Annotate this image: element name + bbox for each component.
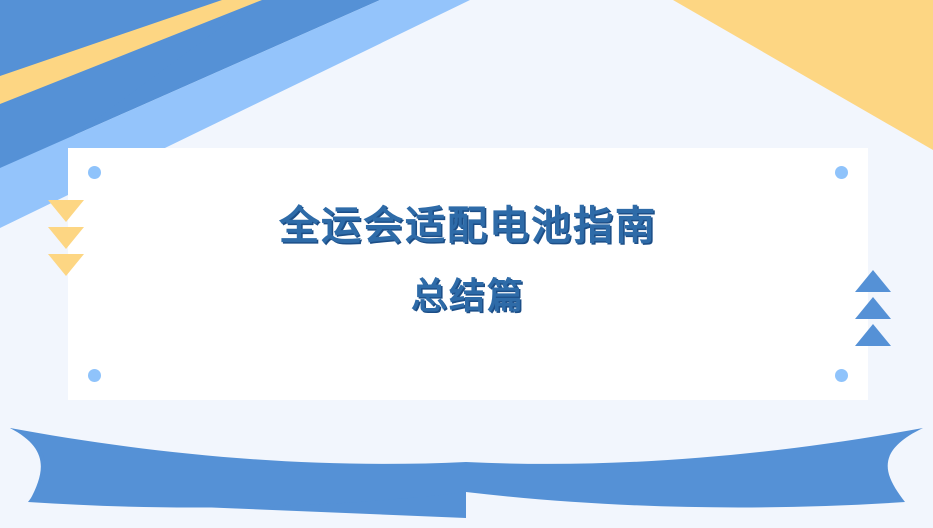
triangle-up-icon [855, 324, 891, 346]
triangle-up-icon [855, 297, 891, 319]
triangle-down-icon [48, 200, 84, 222]
title-slide-poster: 全运会适配电池指南 总结篇 [0, 0, 933, 528]
left-triangle-decoration [48, 200, 84, 281]
page-subtitle: 总结篇 [68, 274, 868, 317]
card-dot-top-left-icon [88, 166, 101, 179]
triangle-up-icon [855, 270, 891, 292]
card-dot-bottom-right-icon [835, 369, 848, 382]
title-block: 全运会适配电池指南 总结篇 [68, 202, 868, 317]
triangle-down-icon [48, 227, 84, 249]
card-dot-top-right-icon [835, 166, 848, 179]
triangle-down-icon [48, 254, 84, 276]
page-title: 全运会适配电池指南 [68, 202, 868, 250]
title-card: 全运会适配电池指南 总结篇 [68, 148, 868, 400]
card-dot-bottom-left-icon [88, 369, 101, 382]
right-triangle-decoration [855, 270, 891, 351]
